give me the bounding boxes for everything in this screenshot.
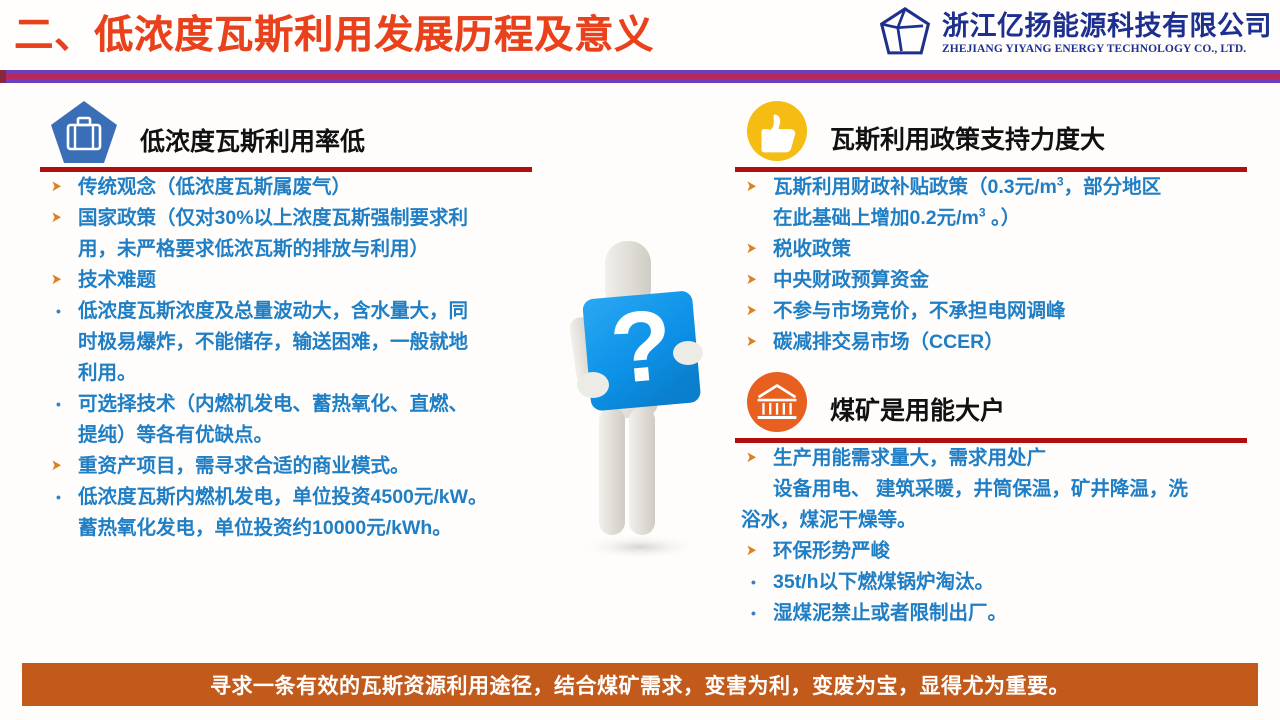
header-divider-stripe [0,74,1280,79]
list-item: 中央财政预算资金 [735,265,1255,295]
mine-section-title: 煤矿是用能大户 [830,391,1005,427]
list-item: 湿煤泥禁止或者限制出厂。 [735,598,1255,628]
list-item: 低浓度瓦斯浓度及总量波动大，含水量大，同 [40,296,560,326]
list-item-text-a: 瓦斯利用财政补贴政策（0.3元/m [773,176,1057,198]
list-item: 时极易爆炸，不能储存，输送困难，一般就地 [40,327,560,357]
policy-bullet-list: 瓦斯利用财政补贴政策（0.3元/m3，部分地区 在此基础上增加0.2元/m3 。… [735,172,1255,357]
list-item: 税收政策 [735,234,1255,264]
mine-section-header: 煤矿是用能大户 [735,371,1255,437]
list-item: 传统观念（低浓度瓦斯属废气） [40,172,560,202]
list-item: 提纯）等各有优缺点。 [40,420,560,450]
list-item: 利用。 [40,358,560,388]
left-bullet-list: 传统观念（低浓度瓦斯属废气） 国家政策（仅对30%以上浓度瓦斯强制要求利 用，未… [40,172,560,543]
briefcase-pentagon-icon [50,100,118,164]
list-item-text-a: 在此基础上增加0.2元/m [773,207,979,229]
hexagon-logo-icon [878,6,932,62]
list-item-text-b: 。） [986,207,1021,229]
person-holding-question-sign: ? [545,235,735,565]
list-item: 环保形势严峻 [735,536,1255,566]
slide-header: 二、低浓度瓦斯利用发展历程及意义 浙江亿扬能源科技有限公司 ZHEJIANG Y… [0,0,1280,86]
left-section-title: 低浓度瓦斯利用率低 [140,122,365,158]
footer-banner-text: 寻求一条有效的瓦斯资源利用途径，结合煤矿需求，变害为利，变废为宝，显得尤为重要。 [210,670,1070,700]
footer-banner: 寻求一条有效的瓦斯资源利用途径，结合煤矿需求，变害为利，变废为宝，显得尤为重要。 [22,663,1258,706]
logo-company-name-cn: 浙江亿扬能源科技有限公司 [942,11,1272,41]
list-item: 低浓度瓦斯内燃机发电，单位投资4500元/kW。 [40,482,560,512]
list-item: 蓄热氧化发电，单位投资约10000元/kWh。 [40,513,560,543]
superscript: 3 [979,206,986,220]
slide-root: 二、低浓度瓦斯利用发展历程及意义 浙江亿扬能源科技有限公司 ZHEJIANG Y… [0,0,1280,720]
question-mark-glyph: ? [606,288,677,405]
logo-company-name-en: ZHEJIANG YIYANG ENERGY TECHNOLOGY CO., L… [942,41,1272,57]
list-item: 浴水，煤泥干燥等。 [735,505,1255,535]
list-item: 35t/h以下燃煤锅炉淘汰。 [735,567,1255,597]
superscript: 3 [1057,175,1064,189]
left-column: 低浓度瓦斯利用率低 传统观念（低浓度瓦斯属废气） 国家政策（仅对30%以上浓度瓦… [40,100,560,544]
header-divider-cap [0,70,6,83]
policy-section-header: 瓦斯利用政策支持力度大 [735,100,1255,166]
header-divider [0,70,1280,83]
list-item: 技术难题 [40,265,560,295]
list-item: 不参与市场竞价，不承担电网调峰 [735,296,1255,326]
company-logo: 浙江亿扬能源科技有限公司 ZHEJIANG YIYANG ENERGY TECH… [878,6,1272,62]
list-item: 可选择技术（内燃机发电、蓄热氧化、直燃、 [40,389,560,419]
policy-section-title: 瓦斯利用政策支持力度大 [830,120,1105,156]
list-item: 碳减排交易市场（CCER） [735,327,1255,357]
list-item-text-b: ，部分地区 [1064,176,1162,198]
bank-building-icon [745,371,813,435]
list-item: 重资产项目，需寻求合适的商业模式。 [40,451,560,481]
list-item: 生产用能需求量大，需求用处广 [735,443,1255,473]
list-item: 设备用电、 建筑采暖，井筒保温，矿井降温，洗 [735,474,1255,504]
right-column: 瓦斯利用政策支持力度大 瓦斯利用财政补贴政策（0.3元/m3，部分地区 在此基础… [735,100,1255,629]
left-section-header: 低浓度瓦斯利用率低 [40,100,560,166]
list-item: 在此基础上增加0.2元/m3 。） [735,203,1255,233]
list-item: 国家政策（仅对30%以上浓度瓦斯强制要求利 [40,203,560,233]
mine-bullet-list: 生产用能需求量大，需求用处广 设备用电、 建筑采暖，井筒保温，矿井降温，洗 浴水… [735,443,1255,628]
page-title: 二、低浓度瓦斯利用发展历程及意义 [14,8,654,64]
list-item: 瓦斯利用财政补贴政策（0.3元/m3，部分地区 [735,172,1255,202]
list-item: 用，未严格要求低浓瓦斯的排放与利用） [40,234,560,264]
thumbs-up-icon [745,100,813,164]
